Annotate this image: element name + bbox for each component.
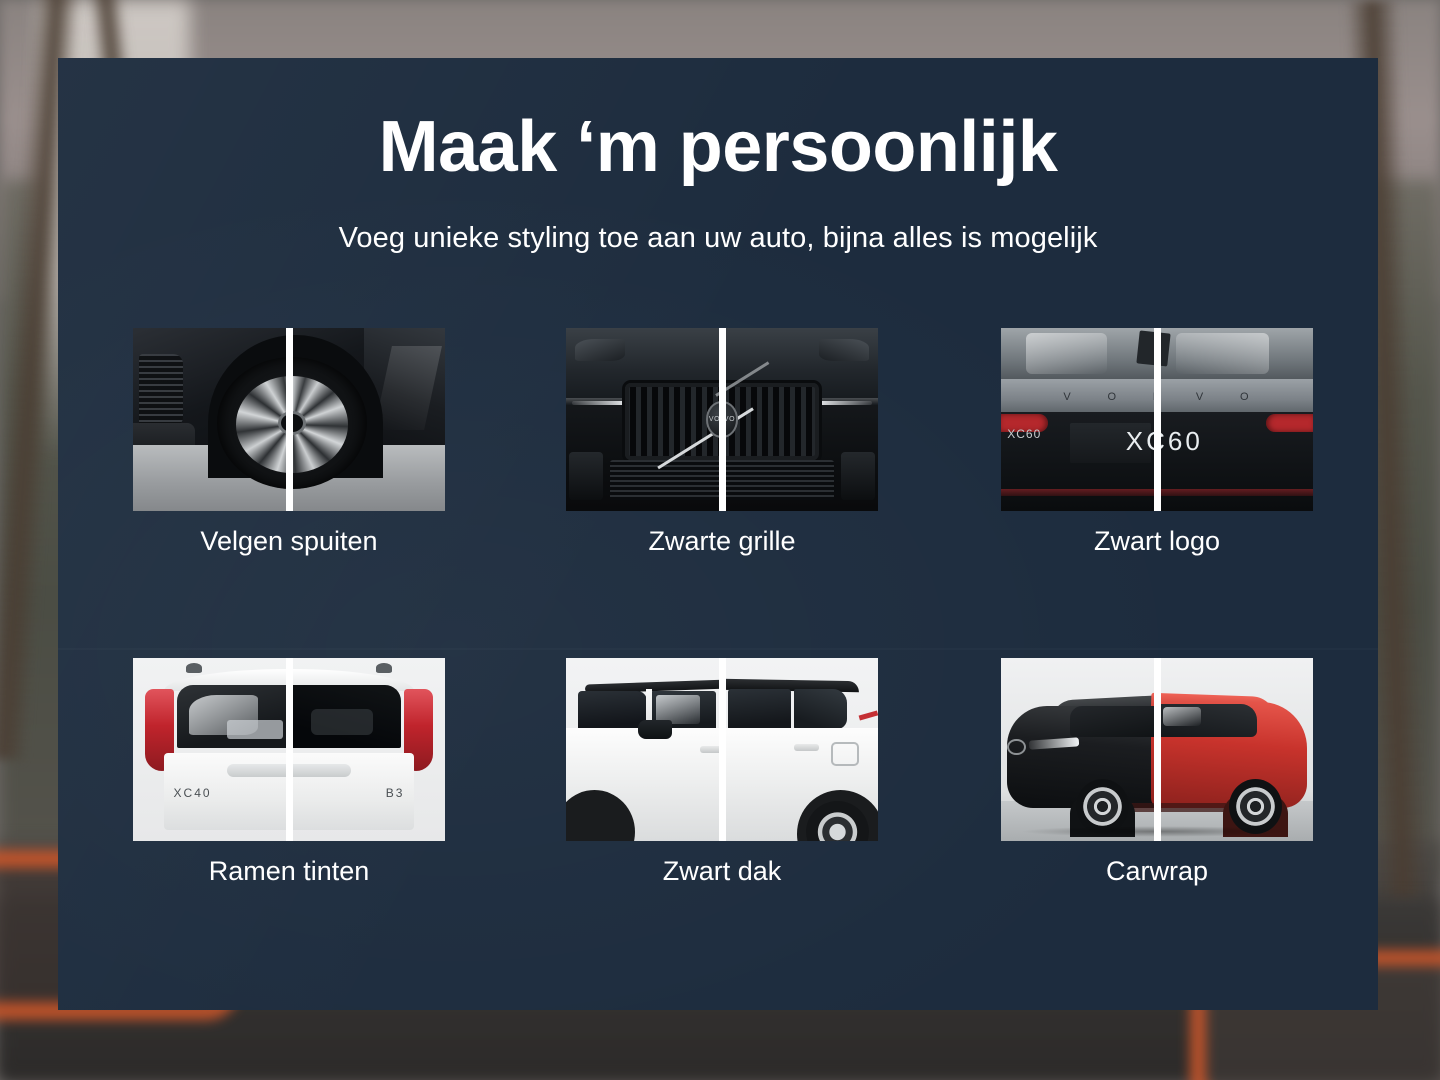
trim-badge-left: XC40: [174, 786, 212, 800]
page-title: Maak ‘m persoonlijk: [58, 110, 1378, 186]
option-card-carwrap[interactable]: Carwrap: [1001, 658, 1313, 887]
option-thumbnail-zwart-logo[interactable]: V O L V O XC60 XC60: [1001, 328, 1313, 511]
wordmark-letter: V: [1063, 391, 1072, 403]
option-card-zwart-dak[interactable]: Zwart dak: [566, 658, 878, 887]
option-card-velgen-spuiten[interactable]: Velgen spuiten: [133, 328, 445, 557]
option-label-velgen-spuiten: Velgen spuiten: [133, 527, 445, 557]
page-subtitle: Voeg unieke styling toe aan uw auto, bij…: [58, 222, 1378, 255]
wordmark-letter: O: [1240, 391, 1251, 403]
option-card-zwart-logo[interactable]: V O L V O XC60 XC60 Zwart logo: [1001, 328, 1313, 557]
option-thumbnail-velgen-spuiten[interactable]: [133, 328, 445, 511]
option-thumbnail-ramen-tinten[interactable]: XC40 B3: [133, 658, 445, 841]
before-after-divider: [719, 328, 726, 511]
options-row-2: XC40 B3 Ramen tinten: [58, 658, 1378, 988]
options-grid: Velgen spuiten: [58, 328, 1378, 988]
model-badge: XC60: [1126, 423, 1220, 460]
wordmark-letter: O: [1108, 391, 1119, 403]
options-row-1: Velgen spuiten: [58, 328, 1378, 658]
option-label-zwart-dak: Zwart dak: [566, 857, 878, 887]
before-after-divider: [1154, 658, 1161, 841]
option-card-zwarte-grille[interactable]: VOLVO Zwarte grille: [566, 328, 878, 557]
option-label-ramen-tinten: Ramen tinten: [133, 857, 445, 887]
wordmark-letter: V: [1196, 391, 1205, 403]
option-thumbnail-carwrap[interactable]: [1001, 658, 1313, 841]
option-label-zwarte-grille: Zwarte grille: [566, 527, 878, 557]
before-after-divider: [1154, 328, 1161, 511]
option-thumbnail-zwart-dak[interactable]: [566, 658, 878, 841]
before-after-divider: [286, 328, 293, 511]
option-card-ramen-tinten[interactable]: XC40 B3 Ramen tinten: [133, 658, 445, 887]
trim-badge-left: XC60: [1007, 427, 1041, 441]
before-after-divider: [719, 658, 726, 841]
option-label-carwrap: Carwrap: [1001, 857, 1313, 887]
before-after-divider: [286, 658, 293, 841]
option-thumbnail-zwarte-grille[interactable]: VOLVO: [566, 328, 878, 511]
option-label-zwart-logo: Zwart logo: [1001, 527, 1313, 557]
volvo-emblem-icon: [1007, 739, 1026, 755]
styling-options-panel: Maak ‘m persoonlijk Voeg unieke styling …: [58, 58, 1378, 1010]
trim-badge-right: B3: [386, 786, 405, 800]
